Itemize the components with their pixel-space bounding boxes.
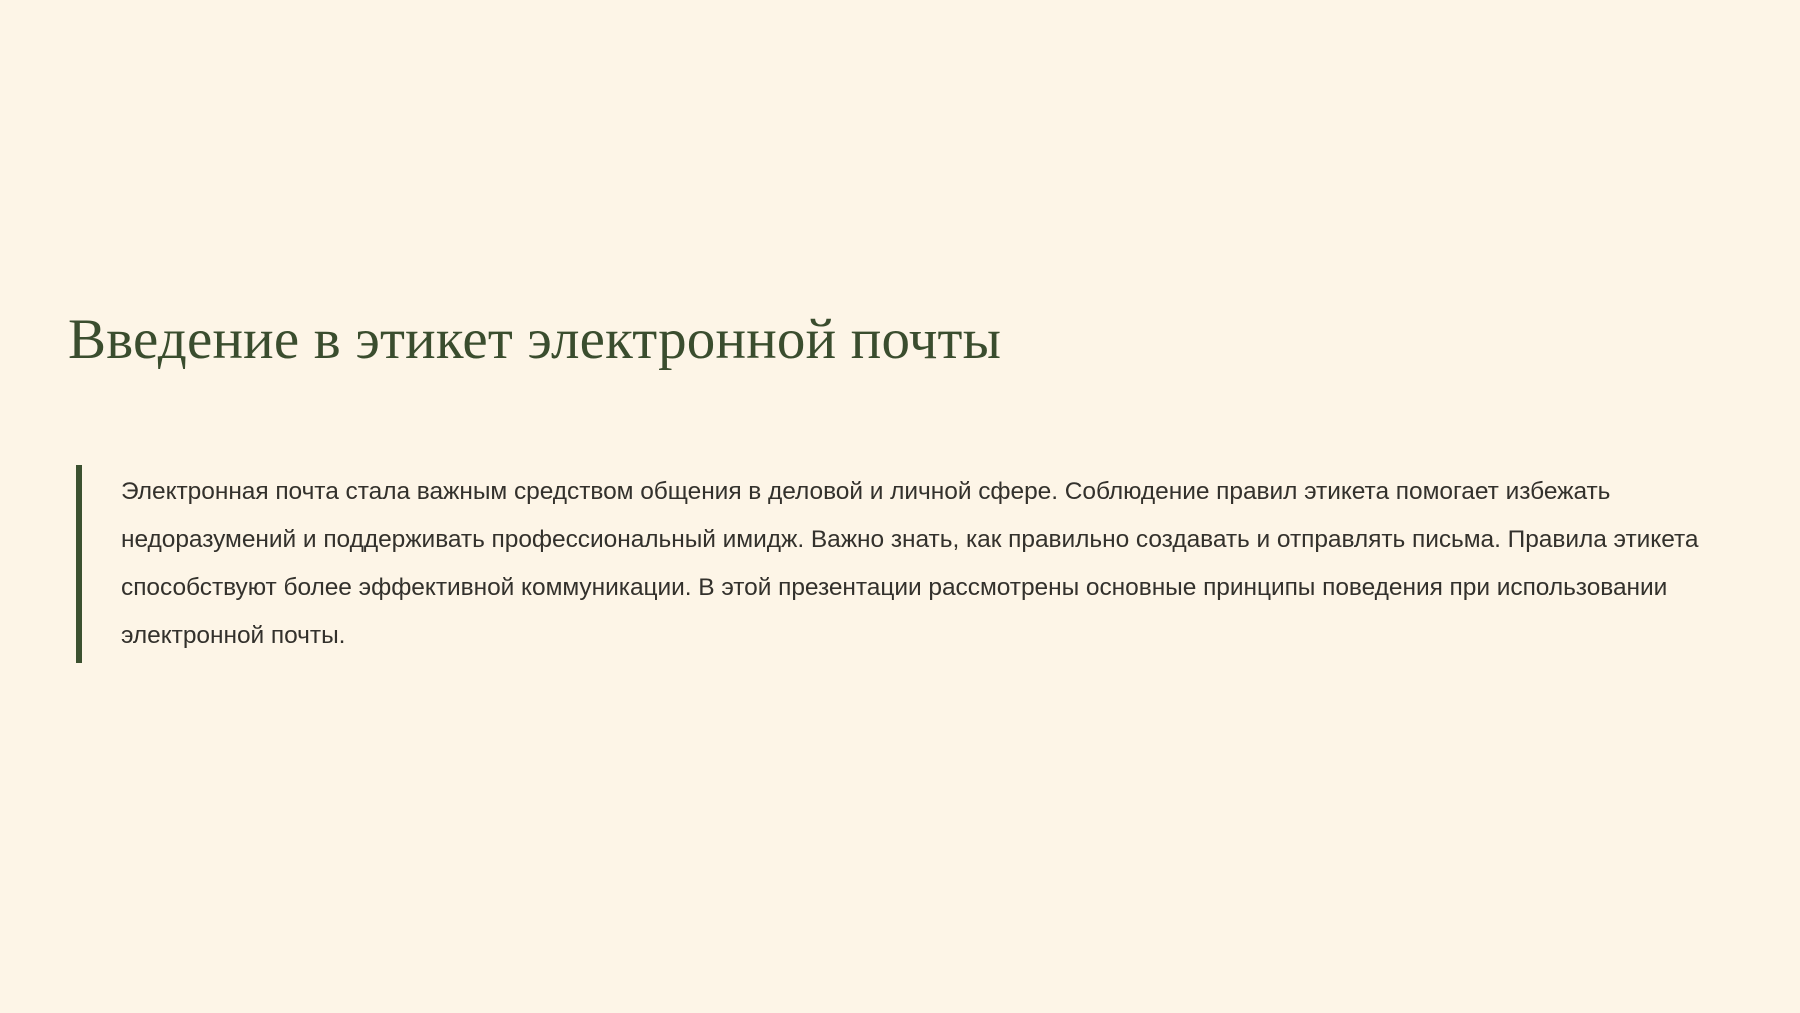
body-callout-block: Электронная почта стала важным средством… bbox=[76, 465, 1716, 663]
presentation-slide: Введение в этикет электронной почты Элек… bbox=[0, 0, 1800, 1013]
page-title: Введение в этикет электронной почты bbox=[68, 306, 1568, 374]
body-paragraph: Электронная почта стала важным средством… bbox=[82, 465, 1716, 663]
